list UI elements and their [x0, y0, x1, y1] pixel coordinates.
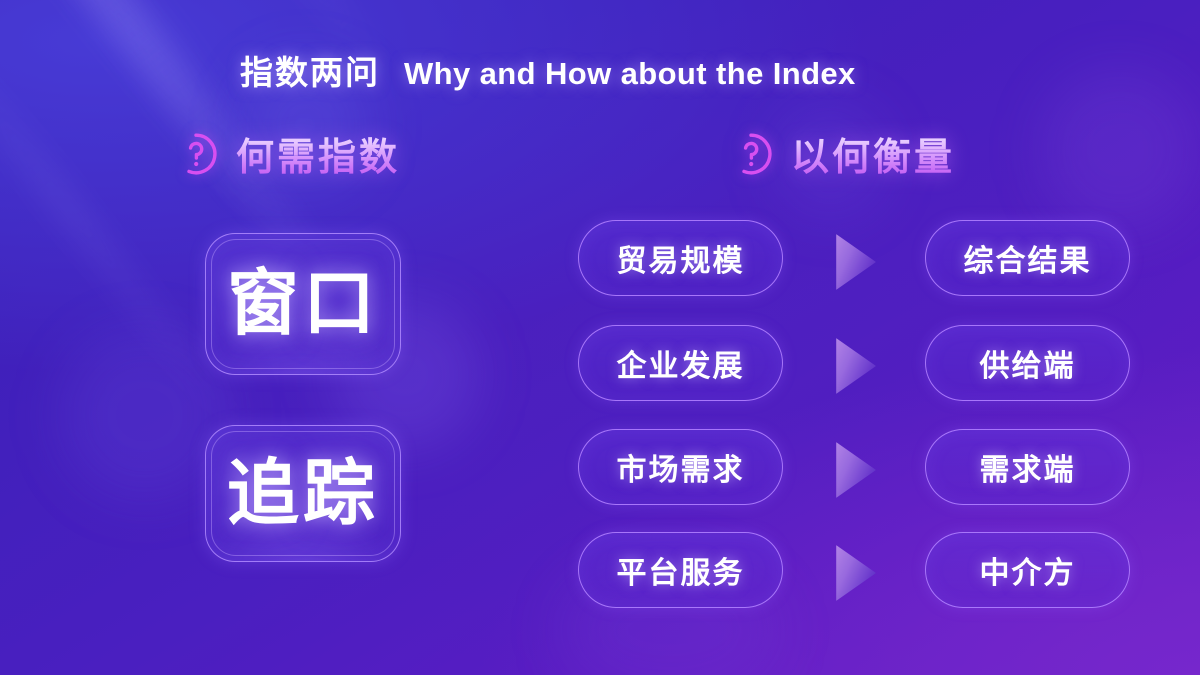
pill-middle-0[interactable]: 贸易规模: [578, 220, 783, 296]
card-tracking[interactable]: 追踪: [205, 425, 401, 562]
pill-label: 平台服务: [617, 548, 745, 592]
arrow-right-icon: [836, 545, 876, 601]
card-window[interactable]: 窗口: [205, 233, 401, 375]
page-title-en: Why and How about the Index: [404, 56, 856, 92]
page-title-cn: 指数两问: [240, 46, 380, 94]
card-window-label: 窗口: [227, 268, 379, 340]
pill-right-2[interactable]: 需求端: [925, 429, 1130, 505]
question-circle-icon: [172, 130, 220, 178]
arrow-right-icon: [836, 442, 876, 498]
arrow-right-icon: [836, 234, 876, 290]
pill-middle-3[interactable]: 平台服务: [578, 532, 783, 608]
slide-canvas: 指数两问 Why and How about the Index 何需指数 以何…: [0, 0, 1200, 675]
pill-label: 综合结果: [964, 236, 1092, 280]
pill-right-3[interactable]: 中介方: [925, 532, 1130, 608]
page-title: 指数两问 Why and How about the Index: [240, 46, 856, 94]
pill-right-0[interactable]: 综合结果: [925, 220, 1130, 296]
section-label-why: 何需指数: [236, 126, 400, 181]
section-header-why: 何需指数: [172, 126, 400, 181]
pill-label: 贸易规模: [617, 236, 745, 280]
section-header-how: 以何衡量: [727, 126, 955, 181]
pill-label: 需求端: [980, 445, 1076, 489]
pill-right-1[interactable]: 供给端: [925, 325, 1130, 401]
pill-label: 中介方: [980, 548, 1076, 592]
background-streak: [0, 0, 263, 452]
arrow-right-icon: [836, 338, 876, 394]
pill-middle-2[interactable]: 市场需求: [578, 429, 783, 505]
pill-label: 市场需求: [617, 445, 745, 489]
background-glow: [1040, 70, 1200, 230]
question-circle-icon: [727, 130, 775, 178]
section-label-how: 以何衡量: [791, 126, 955, 181]
pill-label: 供给端: [980, 341, 1076, 385]
card-tracking-label: 追踪: [227, 458, 379, 530]
pill-middle-1[interactable]: 企业发展: [578, 325, 783, 401]
pill-label: 企业发展: [617, 341, 745, 385]
